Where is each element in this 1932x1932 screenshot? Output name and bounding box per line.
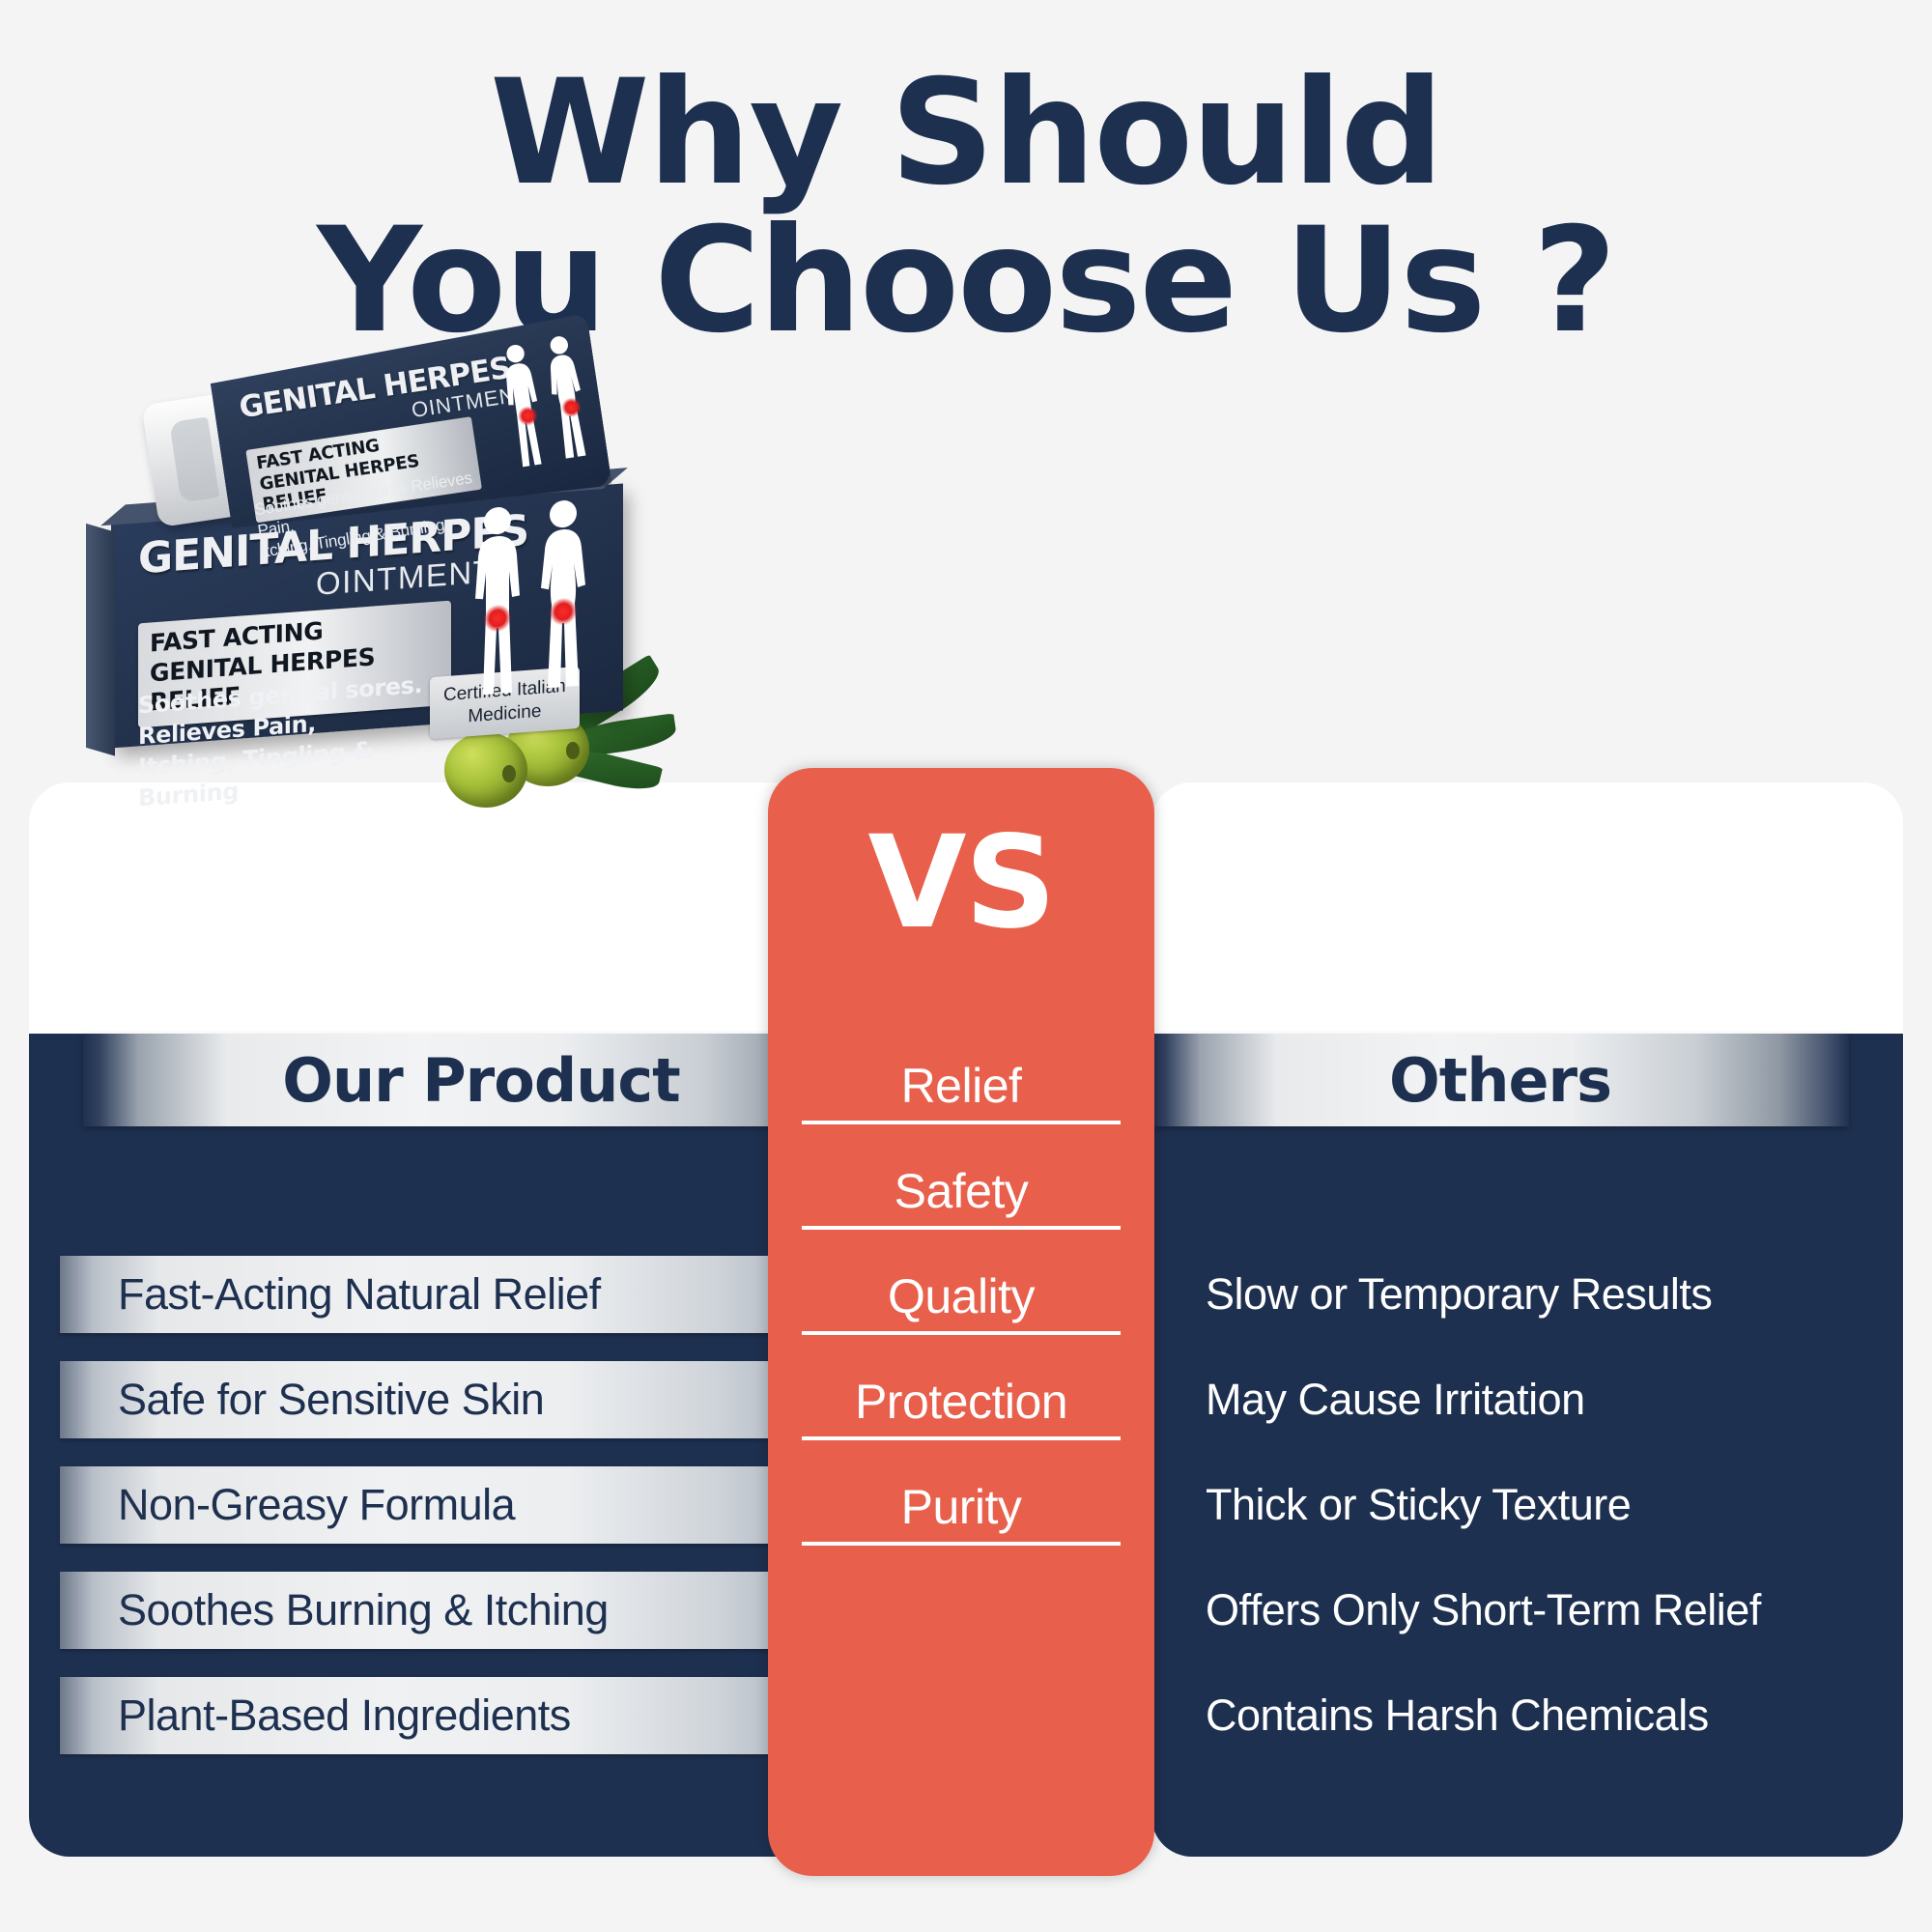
category-label: Protection: [855, 1378, 1067, 1436]
list-item: Protection: [802, 1335, 1121, 1440]
divider: [802, 1436, 1121, 1440]
our-product-feature-area: Our Product Fast-Acting Natural Relief S…: [29, 1034, 879, 1857]
feature-label: Fast-Acting Natural Relief: [118, 1269, 601, 1320]
list-item: Safe for Sensitive Skin: [60, 1361, 879, 1438]
product-box-side: [86, 524, 115, 756]
list-item: May Cause Irritation: [1206, 1361, 1884, 1438]
male-body-icon: [472, 502, 523, 697]
list-item: Safety: [802, 1124, 1121, 1230]
our-product-feature-list: Fast-Acting Natural Relief Safe for Sens…: [60, 1256, 879, 1782]
comparison-category-list: Relief Safety Quality Protection Purity: [802, 1019, 1121, 1546]
divider: [802, 1542, 1121, 1546]
list-item: Soothes Burning & Itching: [60, 1572, 879, 1649]
divider: [802, 1331, 1121, 1335]
drawback-label: Offers Only Short-Term Relief: [1206, 1585, 1761, 1635]
others-header-bar: Others: [1151, 1034, 1849, 1126]
list-item: Non-Greasy Formula: [60, 1466, 879, 1544]
feature-label: Soothes Burning & Itching: [118, 1585, 609, 1635]
product-artwork: GENITAL HERPES OINTMENT FAST ACTING GENI…: [58, 319, 715, 860]
feature-label: Plant-Based Ingredients: [118, 1690, 571, 1741]
drawback-label: Thick or Sticky Texture: [1206, 1480, 1631, 1530]
list-item: Fast-Acting Natural Relief: [60, 1256, 879, 1333]
our-product-header-bar: Our Product: [83, 1034, 879, 1126]
others-drawback-area: Others Slow or Temporary Results May Cau…: [1151, 1034, 1903, 1857]
list-item: Relief: [802, 1019, 1121, 1124]
list-item: Contains Harsh Chemicals: [1206, 1677, 1884, 1754]
category-label: Relief: [901, 1062, 1022, 1121]
page-title-line-1: Why Should: [0, 60, 1932, 208]
divider: [802, 1226, 1121, 1230]
others-panel: Others Slow or Temporary Results May Cau…: [1151, 782, 1903, 1857]
divider: [802, 1121, 1121, 1124]
list-item: Purity: [802, 1440, 1121, 1546]
female-body-icon: [538, 496, 588, 691]
category-label: Quality: [888, 1272, 1035, 1331]
feature-label: Non-Greasy Formula: [118, 1480, 515, 1530]
list-item: Thick or Sticky Texture: [1206, 1466, 1884, 1544]
vs-badge-label: VS: [768, 809, 1154, 957]
drawback-label: May Cause Irritation: [1206, 1375, 1585, 1425]
feature-label: Safe for Sensitive Skin: [118, 1375, 544, 1425]
list-item: Quality: [802, 1230, 1121, 1335]
others-drawback-list: Slow or Temporary Results May Cause Irri…: [1206, 1256, 1884, 1782]
page-title: Why Should You Choose Us ?: [0, 60, 1932, 355]
others-photo-area: [1151, 782, 1903, 1034]
list-item: Plant-Based Ingredients: [60, 1677, 879, 1754]
list-item: Offers Only Short-Term Relief: [1206, 1572, 1884, 1649]
category-label: Safety: [895, 1167, 1029, 1226]
drawback-label: Contains Harsh Chemicals: [1206, 1690, 1709, 1741]
list-item: Slow or Temporary Results: [1206, 1256, 1884, 1333]
infographic-page: Why Should You Choose Us ? Our Product F…: [0, 0, 1932, 1932]
others-header-label: Others: [1389, 1045, 1611, 1116]
product-box-description: Soothes genital sores. Relieves Pain, It…: [138, 667, 467, 814]
drawback-label: Slow or Temporary Results: [1206, 1269, 1712, 1320]
our-product-header-label: Our Product: [282, 1045, 680, 1116]
vs-column: VS Relief Safety Quality Protection Puri…: [768, 768, 1154, 1876]
category-label: Purity: [901, 1483, 1022, 1542]
our-product-panel: Our Product Fast-Acting Natural Relief S…: [29, 782, 879, 1857]
